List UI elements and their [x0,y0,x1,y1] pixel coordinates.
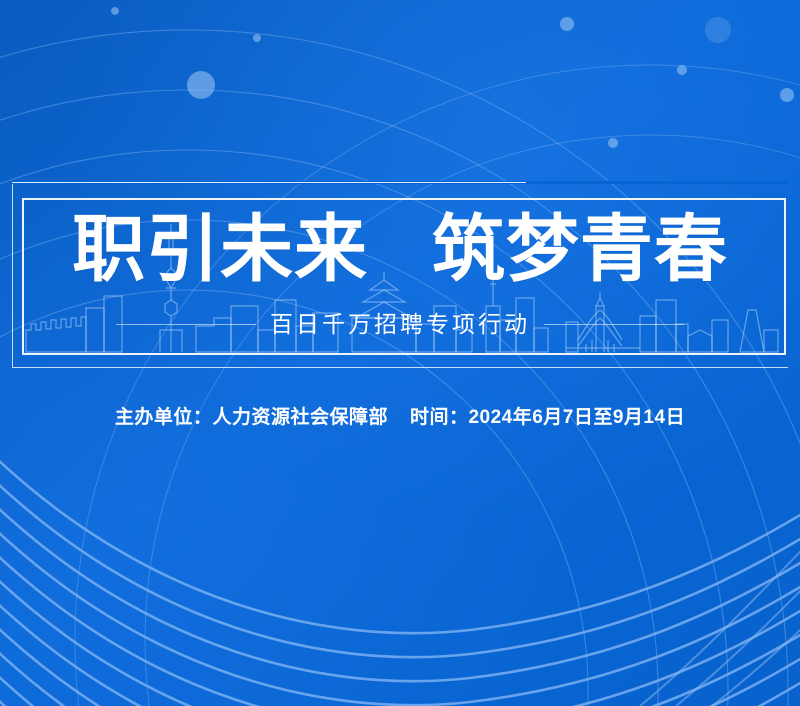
subtitle-rule-right [544,324,684,325]
time-label: 时间： [410,407,469,428]
subtitle-row: 百日千万招聘专项行动 [0,310,800,338]
arc-dot [608,138,618,148]
page-title: 职引未来 筑梦青春 [0,205,800,295]
arc-dot [780,88,794,102]
frame-outer-top-line [12,182,526,183]
arc-dot [253,34,261,42]
organizer-label: 主办单位： [115,407,213,428]
arc-dot [705,17,731,43]
organizer-value: 人力资源社会保障部 [212,407,388,428]
arc-dot [677,65,687,75]
recruitment-campaign-banner: 职引未来 筑梦青春 百日千万招聘专项行动 主办单位：人力资源社会保障部时间：20… [0,0,800,706]
subtitle-text: 百日千万招聘专项行动 [270,310,530,338]
organizer-and-date-line: 主办单位：人力资源社会保障部时间：2024年6月7日至9月14日 [0,405,800,431]
time-value: 2024年6月7日至9月14日 [468,407,685,428]
arc-dot [560,17,574,31]
arc-dot [111,7,119,15]
subtitle-rule-left [116,324,256,325]
arc-dot [187,71,215,99]
